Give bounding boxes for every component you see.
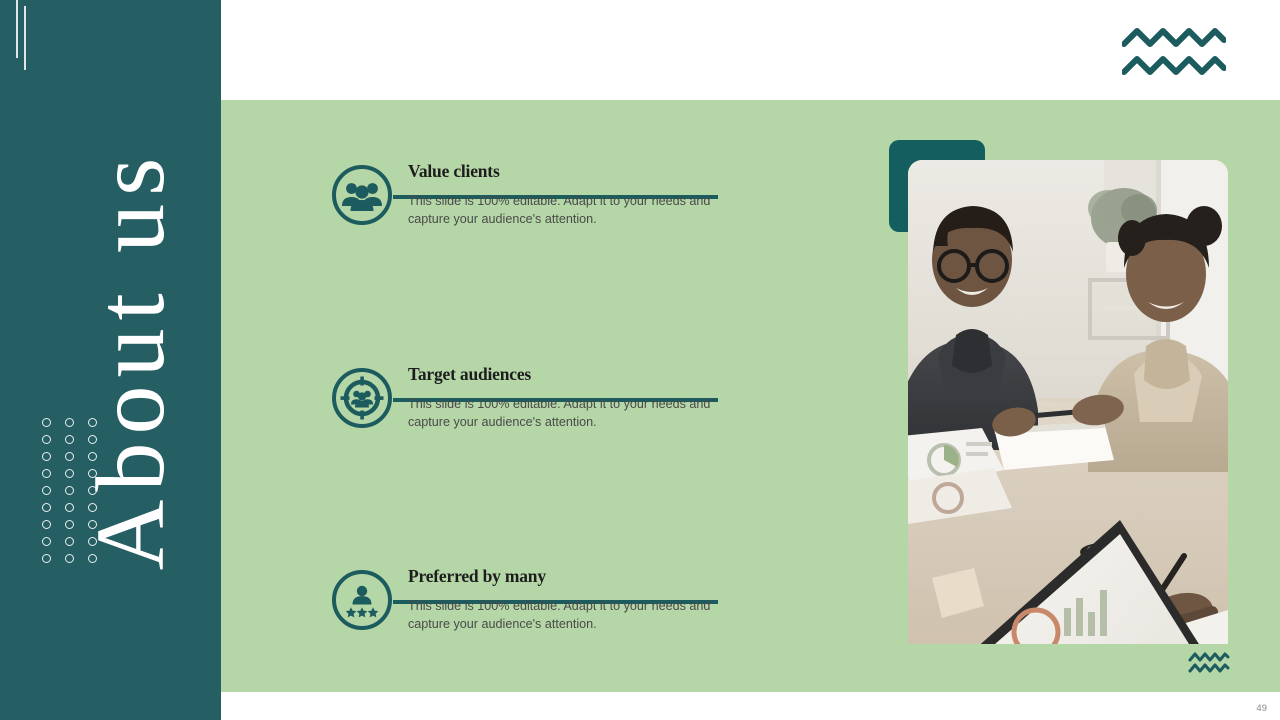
feature-description: This slide is 100% editable. Adapt it to… — [408, 591, 738, 633]
feature-text-block: Preferred by many This slide is 100% edi… — [408, 566, 753, 633]
dot — [42, 418, 51, 427]
feature-item-preferred-by-many[interactable]: Preferred by many This slide is 100% edi… — [331, 569, 751, 659]
feature-description: This slide is 100% editable. Adapt it to… — [408, 389, 738, 431]
dot-pattern-decoration — [42, 418, 111, 571]
feature-item-value-clients[interactable]: Value clients This slide is 100% editabl… — [331, 164, 751, 254]
dot — [88, 469, 97, 478]
dot — [42, 520, 51, 529]
dot — [42, 486, 51, 495]
dot — [65, 520, 74, 529]
team-photo — [908, 160, 1228, 644]
decorative-line-2 — [24, 6, 26, 70]
page-number: 49 — [1256, 703, 1267, 714]
feature-title: Value clients — [408, 161, 753, 182]
dot — [65, 537, 74, 546]
group-of-people-icon — [331, 164, 393, 226]
dot — [88, 452, 97, 461]
dot — [88, 486, 97, 495]
dot — [65, 554, 74, 563]
dot — [88, 418, 97, 427]
dot — [42, 435, 51, 444]
feature-description: This slide is 100% editable. Adapt it to… — [408, 186, 738, 228]
dot — [42, 452, 51, 461]
dot — [42, 503, 51, 512]
dot — [88, 520, 97, 529]
dot — [88, 503, 97, 512]
dot — [65, 452, 74, 461]
dot — [88, 435, 97, 444]
dot — [65, 469, 74, 478]
person-with-stars-icon — [331, 569, 393, 631]
double-zigzag-small-icon — [1188, 652, 1230, 674]
feature-title: Preferred by many — [408, 566, 753, 587]
dot — [42, 554, 51, 563]
feature-item-target-audiences[interactable]: Target audiences This slide is 100% edit… — [331, 367, 751, 457]
dot — [65, 486, 74, 495]
slide-title-container: About us — [0, 0, 221, 720]
target-audience-icon — [331, 367, 393, 429]
left-sidebar: About us — [0, 0, 221, 720]
feature-text-block: Target audiences This slide is 100% edit… — [408, 364, 753, 431]
dot — [88, 554, 97, 563]
dot — [42, 469, 51, 478]
feature-title: Target audiences — [408, 364, 753, 385]
double-zigzag-icon — [1122, 28, 1226, 76]
decorative-line-1 — [16, 0, 18, 58]
dot — [65, 503, 74, 512]
dot — [65, 418, 74, 427]
dot — [88, 537, 97, 546]
feature-text-block: Value clients This slide is 100% editabl… — [408, 161, 753, 228]
dot — [65, 435, 74, 444]
dot — [42, 537, 51, 546]
